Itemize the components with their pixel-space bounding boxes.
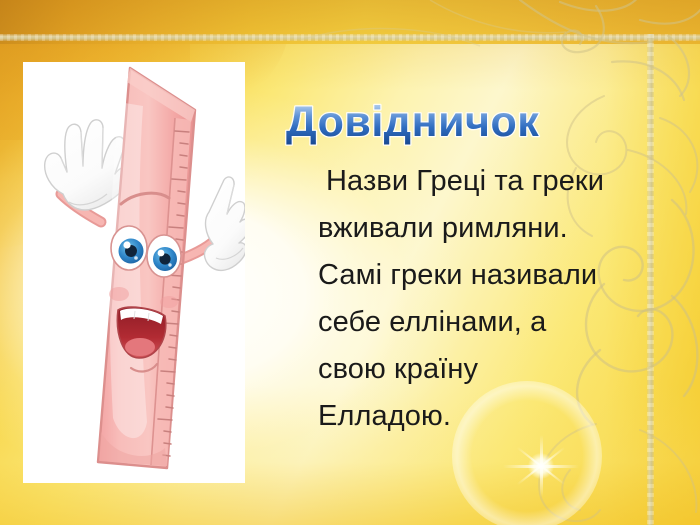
slide: Довідничок Довідничок Назви Греці та гре… [0, 0, 700, 525]
vertical-rule-decoration [647, 34, 654, 525]
body-paragraph: Назви Греці та греки вживали римляни. Са… [318, 158, 618, 440]
title-wordart: Довідничок Довідничок [286, 98, 586, 148]
page-title: Довідничок Довідничок [286, 98, 586, 148]
illustration-panel [23, 62, 245, 483]
cartoon-ruler-character-image [23, 62, 245, 483]
horizontal-rule-decoration [0, 34, 700, 41]
title-label: Довідничок [286, 98, 539, 146]
